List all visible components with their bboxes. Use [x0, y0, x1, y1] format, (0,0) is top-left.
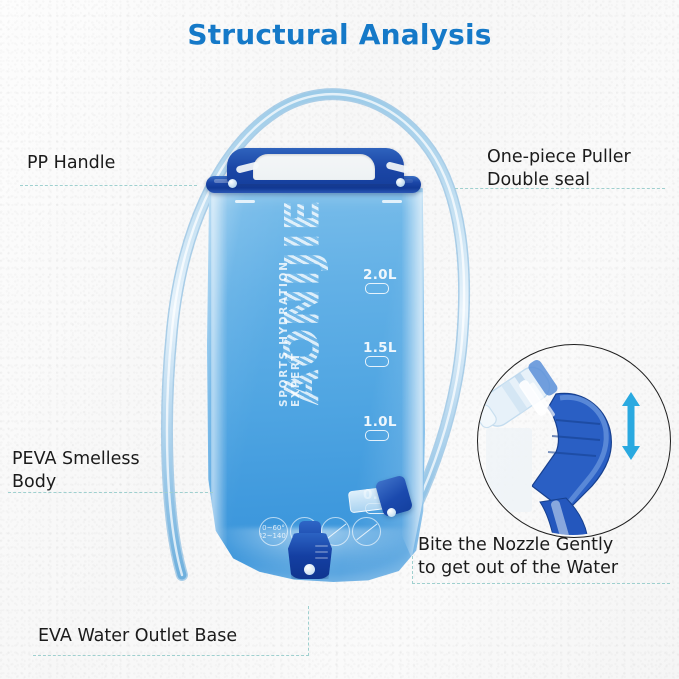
volume-mark-2-0l: 2.0L: [363, 267, 397, 283]
volume-mark-1-5l: 1.5L: [363, 340, 397, 356]
side-connector-rivet: [387, 508, 396, 517]
outlet-rib-1: [315, 545, 328, 547]
callout-bite-nozzle: Bite the Nozzle Gently to get out of the…: [418, 534, 618, 580]
leader-line-bite-nozzle-vertical: [412, 556, 413, 584]
handle-grip-opening: [253, 154, 375, 180]
no-dishwasher-icon: [352, 517, 381, 546]
temperature-range-icon: 0~60° 32~140°: [259, 517, 288, 546]
double-seal-mark-left: [235, 200, 255, 203]
leader-line-eva-outlet: [33, 655, 309, 656]
callout-one-piece-puller: One-piece Puller Double seal: [487, 146, 631, 192]
callout-peva-body: PEVA Smelless Body: [12, 448, 140, 494]
brand-tagline: SPORTS HYDRATION EXPERT: [278, 257, 302, 407]
outlet-rib-2: [315, 551, 328, 553]
outlet-rib-3: [315, 557, 328, 559]
volume-box-2-0l: [365, 283, 389, 294]
infographic-canvas: Structural Analysis: [0, 0, 679, 679]
bladder-left-sheen: [211, 192, 227, 564]
leader-line-bite-nozzle: [412, 583, 670, 584]
callout-pp-handle: PP Handle: [27, 152, 115, 175]
outlet-rivet: [304, 564, 315, 575]
leader-line-eva-outlet-vertical: [308, 606, 309, 656]
volume-box-1-5l: [365, 356, 389, 367]
handle-rivet-left: [228, 179, 237, 188]
bite-valve-closeup-circle: [477, 344, 671, 538]
volume-mark-1-0l: 1.0L: [363, 414, 397, 430]
callout-eva-outlet-base: EVA Water Outlet Base: [38, 625, 237, 648]
handle-rivet-right: [396, 178, 405, 187]
volume-box-1-0l: [365, 430, 389, 441]
double-seal-mark-right: [382, 200, 402, 203]
leader-line-pp-handle: [20, 185, 197, 186]
